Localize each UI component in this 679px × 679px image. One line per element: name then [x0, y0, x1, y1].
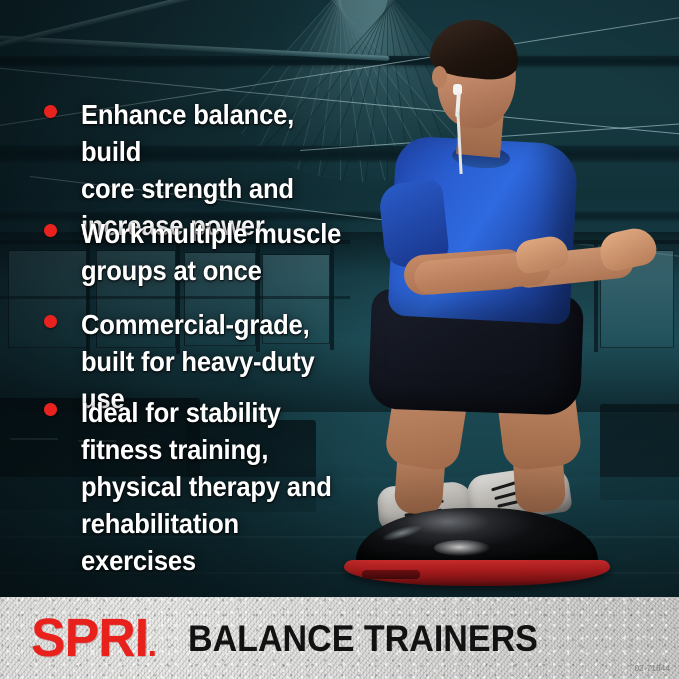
- bullet-dot-icon: [44, 403, 57, 416]
- bullet-dot-icon: [44, 224, 57, 237]
- feature-bullet-2: Work multiple muscle groups at once: [44, 215, 361, 289]
- feature-bullet-2-text: Work multiple muscle groups at once: [81, 215, 341, 289]
- bullet-dot-icon: [44, 315, 57, 328]
- product-title: BALANCE TRAINERS: [188, 620, 538, 657]
- product-poster: Enhance balance, build core strength and…: [0, 0, 679, 679]
- spri-brand-logo: SPRI: [31, 611, 155, 665]
- feature-bullet-4-text: Ideal for stability fitness training, ph…: [81, 394, 359, 579]
- sku-code: 02-71844: [635, 664, 670, 673]
- spri-brand-text: SPRI: [31, 608, 149, 668]
- bottom-banner: SPRI BALANCE TRAINERS 02-71844: [0, 597, 679, 679]
- dome-highlight: [434, 540, 490, 556]
- bullet-dot-icon: [44, 105, 57, 118]
- feature-bullet-4: Ideal for stability fitness training, ph…: [44, 394, 380, 579]
- gym-photo-scene: Enhance balance, build core strength and…: [0, 0, 679, 597]
- spri-logo-dot-icon: [150, 651, 155, 656]
- ear: [432, 66, 447, 88]
- hand-right: [597, 225, 660, 274]
